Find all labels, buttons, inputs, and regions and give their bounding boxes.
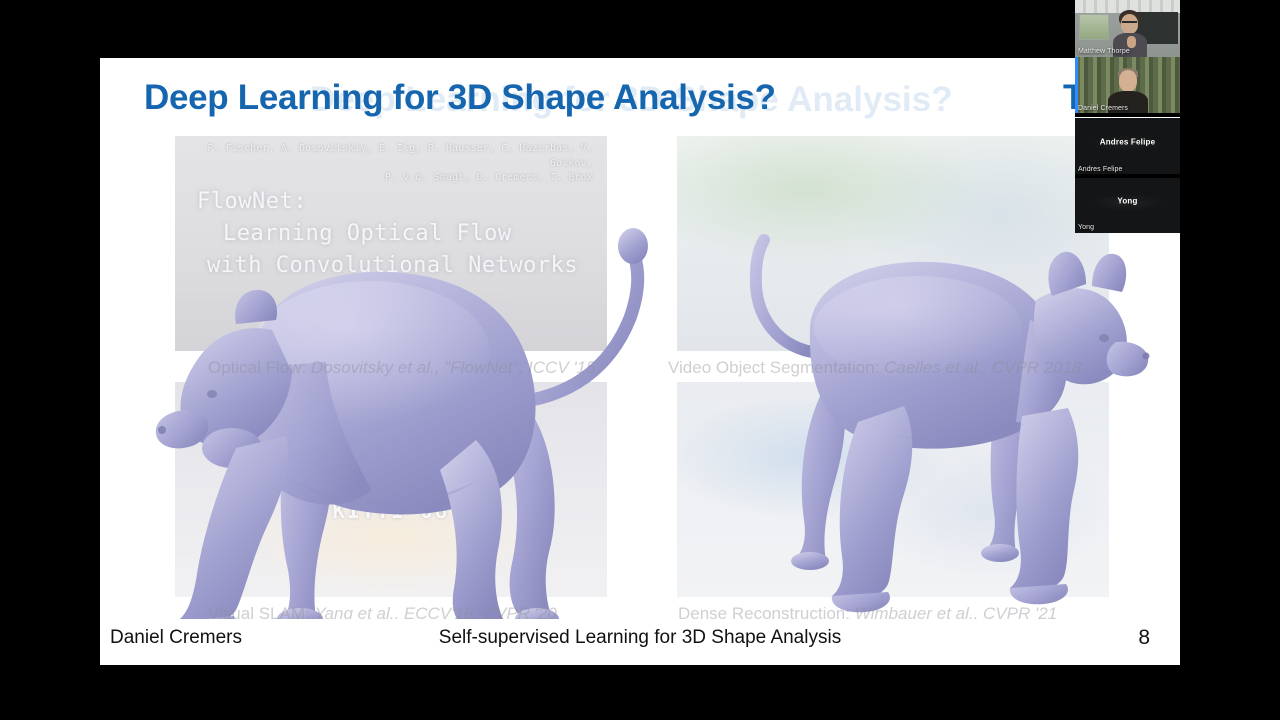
kitti-sequence-label: KITTI 08 xyxy=(332,499,449,523)
caption-vos-label: Video Object Segmentation: xyxy=(668,358,884,377)
media-cell-video-object-segmentation xyxy=(677,136,1109,351)
media-cell-visual-slam: KITTI 08 xyxy=(175,382,607,597)
participant-center-name: Andres Felipe xyxy=(1075,137,1180,146)
slide-footer: Daniel Cremers Self-supervised Learning … xyxy=(100,619,1180,665)
video-participant-strip[interactable]: Matthew Thorpe Daniel Cremers Andres Fel… xyxy=(1075,0,1180,234)
participant-center-name: Yong xyxy=(1075,196,1180,205)
flownet-authors: P. Fischer, A. Dosovitskiy, E. Ilg, P. H… xyxy=(175,142,593,186)
flownet-overlay-title: FlowNet: Learning Optical Flow with Conv… xyxy=(197,186,578,282)
participant-name-label: Andres Felipe xyxy=(1078,166,1123,173)
glasses-icon xyxy=(1122,21,1137,27)
participant-name-label: Daniel Cremers xyxy=(1078,105,1128,112)
footer-page-number: 8 xyxy=(1138,626,1150,650)
tile-separator xyxy=(1075,174,1180,178)
window xyxy=(1079,14,1109,40)
media-cell-optical-flow: P. Fischer, A. Dosovitskiy, E. Ilg, P. H… xyxy=(175,136,607,351)
caption-optical-flow: Optical Flow: Dosovitsky et al., "FlowNe… xyxy=(208,358,596,378)
flownet-authors-line2: P. v.d. Smagt, D. Cremers, T. Brox xyxy=(175,171,593,186)
participant-name-label: Yong xyxy=(1078,224,1094,231)
tile-separator xyxy=(1075,113,1180,117)
caption-optical-flow-label: Optical Flow: xyxy=(208,358,311,377)
video-object-segmentation-thumbnail xyxy=(677,136,1109,351)
visual-slam-thumbnail xyxy=(175,382,607,597)
caption-optical-flow-ref: Dosovitsky et al., "FlowNet", ICCV '15 xyxy=(311,358,596,377)
footer-author: Daniel Cremers xyxy=(110,627,242,649)
flownet-title-line3: with Convolutional Networks xyxy=(197,250,578,282)
flownet-title-line1: FlowNet: xyxy=(197,186,578,218)
hand xyxy=(1127,36,1136,48)
screen-recording-frame: Deep Learning for 3D Shape Analysis? Dee… xyxy=(0,0,1280,720)
participant-name-label: Matthew Thorpe xyxy=(1078,48,1130,55)
media-cell-dense-reconstruction xyxy=(677,382,1109,597)
media-grid: P. Fischer, A. Dosovitskiy, E. Ilg, P. H… xyxy=(100,136,1180,636)
active-speaker-indicator xyxy=(1075,57,1078,114)
footer-presentation-title: Self-supervised Learning for 3D Shape An… xyxy=(439,627,841,649)
caption-vos-ref: Caelles et al., CVPR 2018 xyxy=(884,358,1082,377)
presentation-slide: Deep Learning for 3D Shape Analysis? Dee… xyxy=(100,58,1180,665)
dense-reconstruction-thumbnail xyxy=(677,382,1109,597)
caption-video-object-segmentation: Video Object Segmentation: Caelles et al… xyxy=(668,358,1082,378)
head xyxy=(1119,70,1137,92)
flownet-title-line2: Learning Optical Flow xyxy=(197,218,578,250)
video-tile-yong[interactable]: Yong Yong xyxy=(1075,177,1180,233)
video-tile-matthew-thorpe[interactable]: Matthew Thorpe xyxy=(1075,0,1180,57)
flownet-authors-line1: P. Fischer, A. Dosovitskiy, E. Ilg, P. H… xyxy=(175,142,593,171)
video-tile-andres-felipe[interactable]: Andres Felipe Andres Felipe xyxy=(1075,118,1180,175)
video-tile-daniel-cremers[interactable]: Daniel Cremers xyxy=(1075,57,1180,114)
slide-title: Deep Learning for 3D Shape Analysis? xyxy=(144,78,776,118)
